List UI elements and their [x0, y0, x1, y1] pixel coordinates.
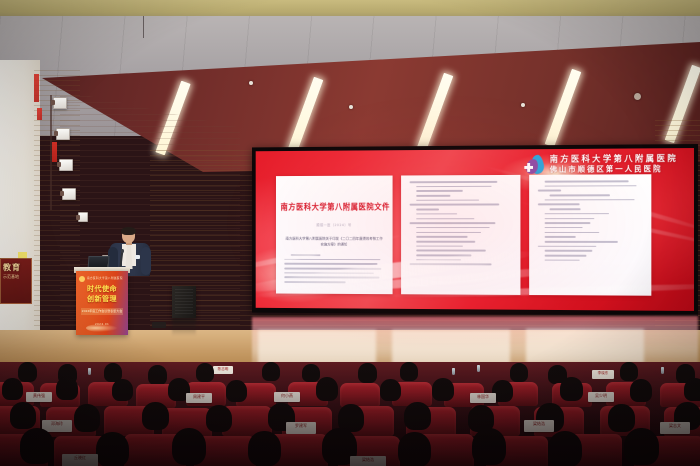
- seat-placard-text: 周建平: [186, 393, 212, 400]
- audience-head: [630, 379, 652, 402]
- seat-placard-text: 梁志文: [660, 422, 690, 429]
- led-video-wall: 南方医科大学第八附属医院 佛山市顺德区第一人民医院 南方医科大学第八附属医院文件…: [252, 144, 698, 316]
- document-title: 南方医科大学第八附属医院文件: [281, 201, 388, 213]
- front-placard-1: 陈志明: [213, 366, 233, 374]
- seat-placard-text: 罗建军: [286, 422, 316, 429]
- seat-placard-text: 邓海玲: [42, 420, 72, 427]
- front-placard-1-text: 陈志明: [213, 366, 233, 372]
- audience-head: [248, 431, 281, 466]
- red-banner-strip-1: [34, 74, 39, 102]
- seat: [340, 383, 380, 407]
- seat-placard: 罗建军: [286, 422, 316, 434]
- seat-placard-text: 林国华: [470, 393, 496, 400]
- audience-head: [608, 404, 635, 432]
- audience-head: [404, 402, 431, 430]
- audience-head: [316, 377, 338, 401]
- stage-floor-monitor: [152, 322, 166, 328]
- seat-placard-text: 何小燕: [274, 392, 300, 399]
- water-bottle-1: [88, 368, 91, 375]
- audience-head: [398, 432, 431, 466]
- ceiling-sensor-1: [249, 81, 253, 85]
- audience-seating-area: 陈志明 李晓东: [0, 362, 700, 466]
- audience-head: [432, 378, 454, 401]
- hospital-name-line2: 佛山市顺德区第一人民医院: [550, 165, 678, 174]
- audience-head: [684, 378, 700, 401]
- podium-logo-row: 南方医科大学第八附属医院: [79, 274, 125, 283]
- stage-spotlight-2: [56, 128, 70, 140]
- front-placard-2-text: 李晓东: [592, 370, 614, 376]
- ceiling-sensor-2: [349, 105, 353, 109]
- audience-head: [472, 428, 506, 465]
- audience-head: [380, 379, 401, 401]
- red-banner-strip-2: [37, 108, 42, 120]
- audience-head: [548, 431, 582, 466]
- audience-head: [96, 432, 129, 466]
- seat-placard-text: 丘晓红: [62, 454, 98, 461]
- seat-placard-text: 黄伟强: [26, 392, 52, 399]
- audience-head: [196, 363, 214, 382]
- podium-tagline: 2024年度工作会议暨表彰大会: [81, 308, 123, 315]
- audience-head: [262, 362, 280, 381]
- wall-plaque-sign: 教育 示范基地: [0, 258, 32, 304]
- hospital-logo-text: 南方医科大学第八附属医院 佛山市顺德区第一人民医院: [550, 155, 678, 173]
- podium-headline-1: 时代使命: [76, 285, 128, 294]
- medical-cross-icon: [524, 163, 533, 172]
- presenter-badge: [135, 255, 140, 259]
- audience-head: [172, 428, 206, 465]
- stage-loudspeaker: [172, 286, 196, 318]
- led-screen-content: 南方医科大学第八附属医院 佛山市顺德区第一人民医院 南方医科大学第八附属医院文件…: [256, 148, 694, 311]
- audience-head: [624, 428, 659, 465]
- seat-placard: 吴少明: [588, 392, 614, 402]
- wall-sign-title: 教育: [1, 259, 31, 273]
- audience-head: [620, 362, 638, 381]
- seat-placard: 林国华: [470, 393, 496, 403]
- water-bottle-4: [661, 367, 664, 374]
- hospital-logo-mark-icon: [524, 155, 545, 175]
- podium-decoration: [86, 324, 118, 332]
- seat-placard: 梁结浩: [350, 456, 386, 466]
- wall-sign-subtitle: 示范基地: [1, 273, 31, 281]
- stage-loudspeaker-reflection: [172, 318, 196, 336]
- seat-placard: 梁志文: [660, 422, 690, 434]
- audience-head: [2, 378, 23, 400]
- seat-placard: 梁结浩: [524, 420, 554, 432]
- stage-spotlight-3: [59, 159, 73, 171]
- seat-placard-text: 梁结浩: [524, 420, 554, 427]
- podium-microphone-head: [121, 249, 124, 253]
- presenter-arm-right: [141, 247, 151, 275]
- podium-org-line: 南方医科大学第八附属医院: [87, 277, 123, 280]
- audience-head: [20, 428, 54, 464]
- podium-headline-2: 创新管理: [76, 295, 128, 304]
- seat-placard: 周建平: [186, 393, 212, 403]
- water-bottle-2: [477, 365, 480, 372]
- ceiling-sensor-3: [521, 103, 525, 107]
- hospital-logo-lockup: 南方医科大学第八附属医院 佛山市顺德区第一人民医院: [524, 154, 678, 175]
- seat-placard-text: 梁结浩: [350, 456, 386, 463]
- audience-head: [302, 364, 320, 382]
- audience-head: [74, 404, 100, 432]
- presenter-hair: [121, 227, 136, 235]
- podium-logo-icon: [79, 276, 85, 282]
- conference-hall-photo: 教育 示范基地 南方医科大学第八附属医院 佛山市顺德区第一人民医院: [0, 0, 700, 466]
- audience-head: [56, 377, 78, 400]
- document-number: 顺德一医〔2024〕号: [276, 222, 393, 227]
- front-placard-2: 李晓东: [592, 370, 614, 379]
- audience-head: [510, 363, 528, 382]
- stage-spotlight-4: [62, 188, 76, 200]
- stage-spotlight-1: [53, 97, 67, 109]
- seat-placard-text: 吴少明: [588, 392, 614, 399]
- audience-head: [206, 405, 232, 432]
- seat-placard: 黄伟强: [26, 392, 52, 402]
- audience-head: [560, 377, 583, 401]
- red-banner-strip-3: [52, 142, 57, 162]
- audience-head: [226, 380, 247, 402]
- seat-placard: 何小燕: [274, 392, 300, 402]
- podium-banner: 南方医科大学第八附属医院 时代使命 创新管理 2024年度工作会议暨表彰大会 2…: [76, 271, 128, 335]
- audience-head: [142, 402, 169, 430]
- water-bottle-3: [452, 368, 455, 375]
- ceiling-hang-wire: [143, 16, 144, 38]
- audience-head: [400, 362, 418, 381]
- audience-head: [148, 365, 167, 385]
- ceiling-speaker-dome: [634, 93, 641, 100]
- audience-head: [10, 402, 36, 429]
- stage-spotlight-5: [78, 212, 88, 222]
- spotlight-rail: [50, 95, 52, 210]
- document-body-3: [529, 174, 651, 261]
- audience-head: [112, 379, 133, 401]
- slide-document-page-3: [529, 174, 651, 295]
- seat-placard: 丘晓红: [62, 454, 98, 466]
- audience-head: [358, 363, 377, 383]
- audience-head: [18, 362, 37, 382]
